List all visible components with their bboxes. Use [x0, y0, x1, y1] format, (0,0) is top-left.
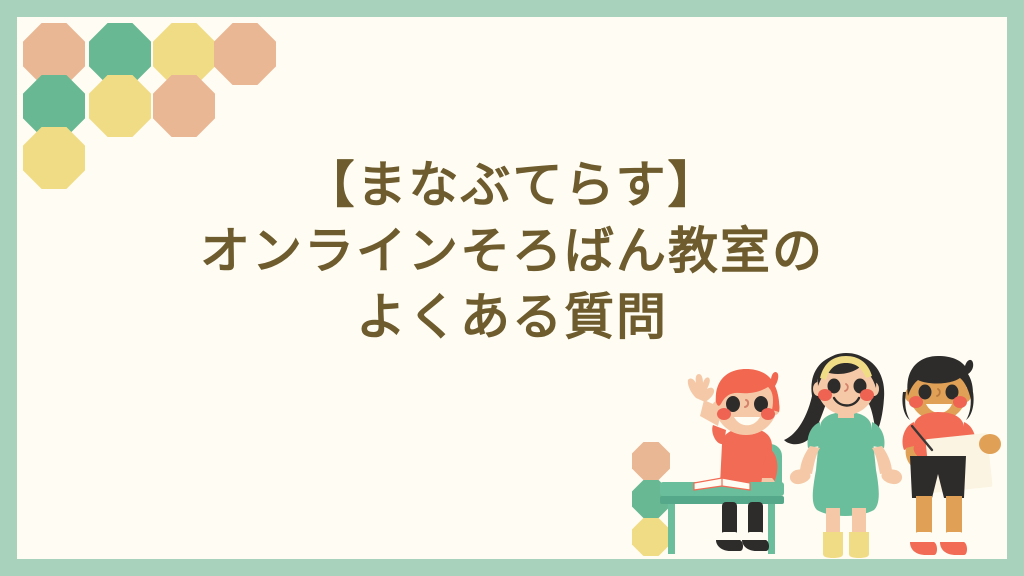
title-line-1: 【まなぶてらす】	[0, 152, 1024, 218]
child-girl-green-dress	[784, 353, 902, 558]
hexagon-r2c3-peach	[153, 75, 215, 137]
three-children-illustration	[660, 352, 1007, 559]
title-line-2: オンラインそろばん教室の	[0, 218, 1024, 284]
title-line-3: よくある質問	[0, 284, 1024, 350]
hexagon-r2c2-yellow	[89, 75, 151, 137]
slide-canvas: 【まなぶてらす】 オンラインそろばん教室の よくある質問	[0, 0, 1024, 576]
hexagon-r1c4-peach	[214, 23, 276, 85]
child-boy-holding-paper	[902, 356, 1001, 555]
child-boy-raising-hand	[660, 369, 784, 554]
page-title: 【まなぶてらす】 オンラインそろばん教室の よくある質問	[0, 152, 1024, 350]
